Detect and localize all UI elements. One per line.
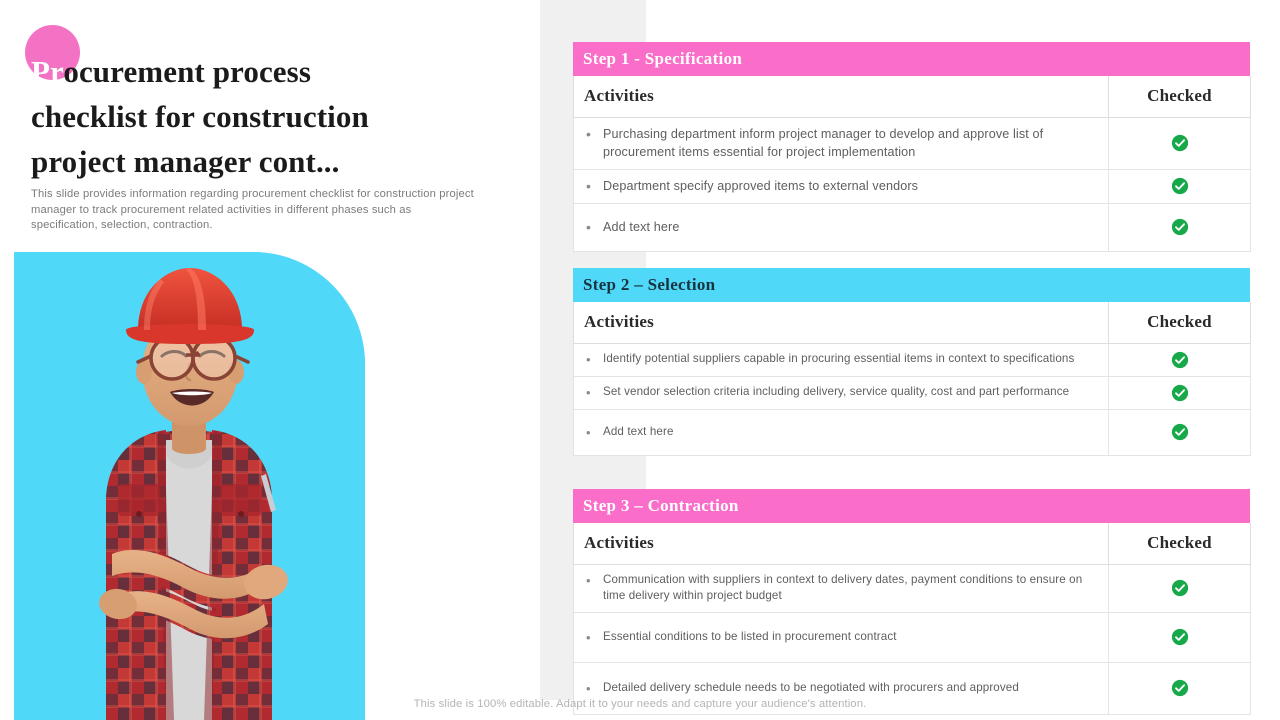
activity-text: Communication with suppliers in context …	[603, 572, 1096, 604]
activity-cell: • Identify potential suppliers capable i…	[574, 344, 1109, 377]
column-header-activities: Activities	[574, 523, 1109, 565]
checklist-block-step-2: Step 2 – Selection Activities Checked • …	[573, 268, 1250, 456]
check-circle-icon[interactable]	[1171, 134, 1189, 152]
activity-text: Add text here	[603, 424, 1096, 440]
page-title-rest: ocurement process checklist for construc…	[31, 54, 369, 179]
bullet-icon: •	[584, 424, 603, 441]
bullet-icon: •	[584, 680, 603, 697]
table-row: • Essential conditions to be listed in p…	[574, 613, 1251, 663]
table-row: • Add text here	[574, 410, 1251, 456]
column-header-checked: Checked	[1109, 523, 1251, 565]
bullet-icon: •	[584, 629, 603, 646]
activity-cell: • Department specify approved items to e…	[574, 170, 1109, 204]
footer-note: This slide is 100% editable. Adapt it to…	[0, 698, 1280, 710]
bullet-icon: •	[584, 177, 603, 195]
checked-cell[interactable]	[1109, 377, 1251, 410]
check-circle-icon[interactable]	[1171, 177, 1189, 195]
table-row: • Purchasing department inform project m…	[574, 118, 1251, 170]
activity-cell: • Communication with suppliers in contex…	[574, 565, 1109, 613]
check-circle-icon[interactable]	[1171, 579, 1189, 597]
checklist-table-2: Activities Checked • Identify potential …	[573, 302, 1251, 456]
activity-text: Purchasing department inform project man…	[603, 125, 1096, 161]
column-header-activities: Activities	[574, 76, 1109, 118]
page-title-lead: Pr	[31, 54, 63, 89]
column-header-activities: Activities	[574, 302, 1109, 344]
table-header-row: Activities Checked	[574, 76, 1251, 118]
bullet-icon: •	[584, 218, 603, 236]
step-header-1: Step 1 - Specification	[573, 42, 1250, 76]
activity-cell: • Purchasing department inform project m…	[574, 118, 1109, 170]
bullet-icon: •	[584, 351, 603, 368]
check-circle-icon[interactable]	[1171, 423, 1189, 441]
check-circle-icon[interactable]	[1171, 218, 1189, 236]
checked-cell[interactable]	[1109, 613, 1251, 663]
table-header-row: Activities Checked	[574, 523, 1251, 565]
page-title: Procurement process checklist for constr…	[31, 49, 431, 184]
check-circle-icon[interactable]	[1171, 628, 1189, 646]
checklist-table-3: Activities Checked • Communication with …	[573, 523, 1251, 715]
worker-illustration-icon	[14, 252, 365, 720]
checked-cell[interactable]	[1109, 170, 1251, 204]
table-row: • Add text here	[574, 204, 1251, 252]
step-header-2: Step 2 – Selection	[573, 268, 1250, 302]
table-row: • Set vendor selection criteria includin…	[574, 377, 1251, 410]
checked-cell[interactable]	[1109, 118, 1251, 170]
checklist-table-1: Activities Checked • Purchasing departme…	[573, 76, 1251, 252]
activity-cell: • Set vendor selection criteria includin…	[574, 377, 1109, 410]
check-circle-icon[interactable]	[1171, 679, 1189, 697]
table-header-row: Activities Checked	[574, 302, 1251, 344]
checklist-block-step-3: Step 3 – Contraction Activities Checked …	[573, 489, 1250, 715]
activity-cell: • Add text here	[574, 410, 1109, 456]
checked-cell[interactable]	[1109, 204, 1251, 252]
step-header-3: Step 3 – Contraction	[573, 489, 1250, 523]
activity-text: Detailed delivery schedule needs to be n…	[603, 680, 1096, 696]
table-row: • Communication with suppliers in contex…	[574, 565, 1251, 613]
page-subtitle: This slide provides information regardin…	[31, 187, 479, 234]
check-circle-icon[interactable]	[1171, 384, 1189, 402]
checked-cell[interactable]	[1109, 344, 1251, 377]
slide-canvas: Procurement process checklist for constr…	[0, 0, 1280, 720]
bullet-icon: •	[584, 125, 603, 143]
activity-cell: • Essential conditions to be listed in p…	[574, 613, 1109, 663]
activity-text: Department specify approved items to ext…	[603, 177, 1096, 195]
activity-cell: • Add text here	[574, 204, 1109, 252]
activity-text: Essential conditions to be listed in pro…	[603, 629, 1096, 645]
activity-text: Identify potential suppliers capable in …	[603, 351, 1096, 367]
left-column: Procurement process checklist for constr…	[0, 0, 540, 720]
bullet-icon: •	[584, 384, 603, 401]
bullet-icon: •	[584, 572, 603, 589]
checked-cell[interactable]	[1109, 410, 1251, 456]
column-header-checked: Checked	[1109, 302, 1251, 344]
table-row: • Identify potential suppliers capable i…	[574, 344, 1251, 377]
checked-cell[interactable]	[1109, 565, 1251, 613]
check-circle-icon[interactable]	[1171, 351, 1189, 369]
activity-text: Add text here	[603, 218, 1096, 236]
table-row: • Department specify approved items to e…	[574, 170, 1251, 204]
column-header-checked: Checked	[1109, 76, 1251, 118]
worker-photo	[14, 252, 365, 720]
checklist-block-step-1: Step 1 - Specification Activities Checke…	[573, 42, 1250, 252]
activity-text: Set vendor selection criteria including …	[603, 384, 1096, 400]
